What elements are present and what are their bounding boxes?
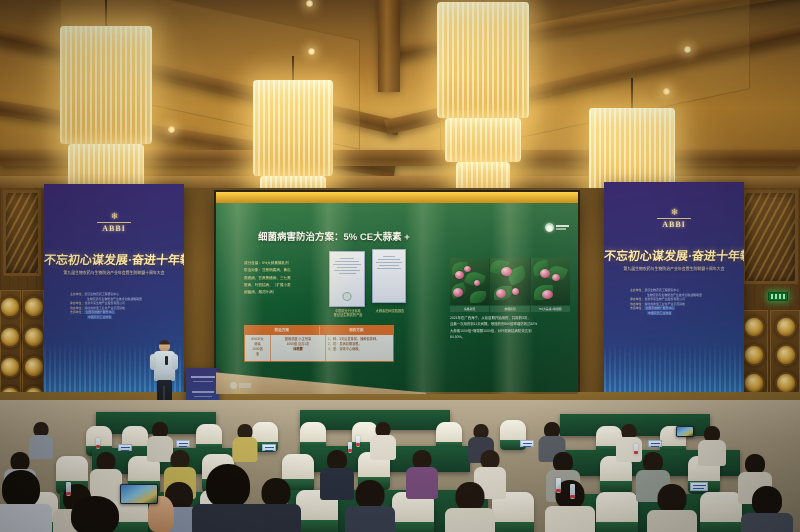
water-bottle-icon	[348, 442, 352, 453]
banquet-chair-icon	[596, 492, 638, 532]
slide-table: 防治方案 用药方案 5%CE大蒜素1000倍液 施用浓度 小主剂量1000倍 见…	[244, 325, 394, 362]
smartphone-icon[interactable]	[676, 426, 694, 437]
dove-icon: ❄	[44, 212, 184, 221]
photo-caption-row: 病株对照 常规药剂 5%大蒜素+噻霉酮	[450, 306, 570, 312]
banner-headline: 不忘初心谋发展·奋进十年攀高峰	[604, 247, 744, 264]
gold-medallion-icon	[775, 316, 797, 338]
photo-caption: 5%大蒜素+噻霉酮	[531, 306, 570, 312]
gold-medallion-icon	[0, 296, 21, 318]
gold-medallion-icon	[775, 372, 797, 394]
abbi-logo-text: ABBI	[604, 220, 744, 229]
spec-line: 成分含量：5%大蒜素微乳剂	[244, 260, 318, 267]
name-card-icon	[648, 440, 662, 447]
exit-sign-icon	[768, 292, 788, 301]
banquet-chair-icon	[700, 492, 742, 532]
speaker-arm-left	[150, 354, 156, 370]
table-cell-usage: 1、种：3天后发芽前，播种前拌种。 2、初：发病初期灌根。 3、盛：灌溉中心病株…	[326, 335, 393, 361]
table-header-cell: 防治方案	[245, 326, 320, 335]
table-header-cell: 用药方案	[320, 326, 394, 335]
downlight-icon	[308, 48, 315, 55]
water-bottle-icon	[66, 482, 71, 496]
company-logo-icon	[545, 223, 569, 232]
crop-photo	[531, 258, 570, 305]
audience-person-foreground	[196, 464, 260, 532]
smartphone-icon[interactable]	[120, 484, 158, 504]
gold-medallion-icon	[0, 326, 21, 348]
photo-grid	[450, 258, 570, 305]
water-bottle-icon	[556, 478, 561, 493]
dove-icon: ❄	[604, 208, 744, 217]
gold-medallion-icon	[23, 326, 45, 348]
name-card-icon	[262, 444, 276, 451]
downlight-icon	[168, 126, 175, 133]
water-bottle-icon	[356, 436, 360, 447]
gold-medallion-icon	[0, 356, 21, 378]
table-header-row: 防治方案 用药方案	[245, 326, 393, 335]
gold-medallion-icon	[743, 344, 765, 366]
gold-medallion-icon	[743, 372, 765, 394]
gold-medallion-icon	[775, 344, 797, 366]
certificate-caption: 大蒜素田间试验报告	[368, 309, 412, 313]
crop-photo	[490, 258, 529, 305]
slide-spec-block: 成分含量：5%大蒜素微乳剂 防治对象：甘蔗梢腐病、黄瓜 角斑病、甘蔗黑穗病、三七…	[244, 260, 318, 297]
audience-person	[650, 484, 694, 532]
table-cell-dose: 5%CE大蒜素1000倍液	[245, 335, 271, 361]
spec-line: 斑病、叶斑枯病、（扩展小麦	[244, 282, 318, 289]
projection-screen: 细菌病害防治方案：5% CE大蒜素 + 成分含量：5%大蒜素微乳剂 防治对象：甘…	[216, 192, 578, 394]
company-logo-icon	[230, 382, 251, 389]
name-card-icon	[520, 440, 534, 447]
gold-medallion-icon	[743, 316, 765, 338]
audience-person	[744, 486, 790, 532]
spec-line: 防治对象：甘蔗梢腐病、黄瓜	[244, 267, 318, 274]
certificate-image	[329, 251, 365, 307]
name-card-icon	[176, 440, 190, 447]
water-bottle-icon	[96, 438, 100, 449]
downlight-icon	[684, 46, 691, 53]
banner-headline: 不忘初心谋发展·奋进十年攀高峰	[44, 251, 184, 268]
abbi-logo-text: ABBI	[44, 224, 184, 233]
table-row: 5%CE大蒜素1000倍液 施用浓度 小主剂量1000倍 见青1次体喷雾 1、种…	[245, 335, 393, 361]
banner-subtitle: 第九届生物农药与生物防治产业年会暨生防联盟十周年大会	[604, 266, 744, 272]
name-card-icon	[690, 482, 708, 491]
gold-medallion-icon	[23, 356, 45, 378]
slide-footer	[216, 370, 578, 394]
audience-person	[448, 482, 492, 532]
crop-photo	[450, 258, 489, 305]
conference-photo-scene: ❄ ABBI 不忘初心谋发展·奋进十年攀高峰 第九届生物农药与生物防治产业年会暨…	[0, 0, 800, 532]
microphone-icon	[165, 356, 168, 365]
audience-person	[372, 422, 394, 458]
photo-caption: 常规药剂	[490, 306, 529, 312]
wood-carving-icon	[742, 190, 798, 284]
table-cell-method: 施用浓度 小主剂量1000倍 见青1次体喷雾	[271, 335, 326, 361]
audience-area	[0, 400, 800, 532]
slide-photo-panel: 病株对照 常规药剂 5%大蒜素+噻霉酮 2021年在广西海宁，从幼苗期开始用药，…	[450, 258, 570, 341]
water-bottle-icon	[570, 484, 575, 499]
audience-person	[234, 424, 256, 460]
photo-note: 2021年在广西海宁，从幼苗期开始用药，共用药3次， 且最一次用药到11天间隔，…	[450, 315, 570, 341]
audience-person	[348, 480, 392, 532]
water-bottle-icon	[634, 444, 638, 455]
slide-title: 细菌病害防治方案：5% CE大蒜素 +	[258, 229, 410, 243]
screen-top-light-band	[216, 192, 578, 203]
audience-person-foreground	[0, 470, 48, 532]
downlight-icon	[306, 0, 313, 7]
spec-line: 角斑病、甘蔗黑穗病、三七黑	[244, 275, 318, 282]
wood-carving-icon	[3, 190, 41, 276]
banner-subtitle: 第九届生物农药与生物防治产业年会暨生防联盟十周年大会	[44, 270, 184, 276]
gold-medallion-icon	[23, 296, 45, 318]
spec-line: 细菌病、烟花叶病）	[244, 289, 318, 296]
certificate-image	[372, 249, 406, 303]
ceiling-ridge	[378, 0, 400, 92]
audience-person	[408, 450, 436, 496]
presentation-slide: 细菌病害防治方案：5% CE大蒜素 + 成分含量：5%大蒜素微乳剂 防治对象：甘…	[216, 203, 578, 394]
audience-person	[700, 426, 724, 464]
photo-caption: 病株对照	[450, 306, 489, 312]
name-card-icon	[118, 444, 132, 451]
speaker-arm-right	[172, 354, 178, 370]
